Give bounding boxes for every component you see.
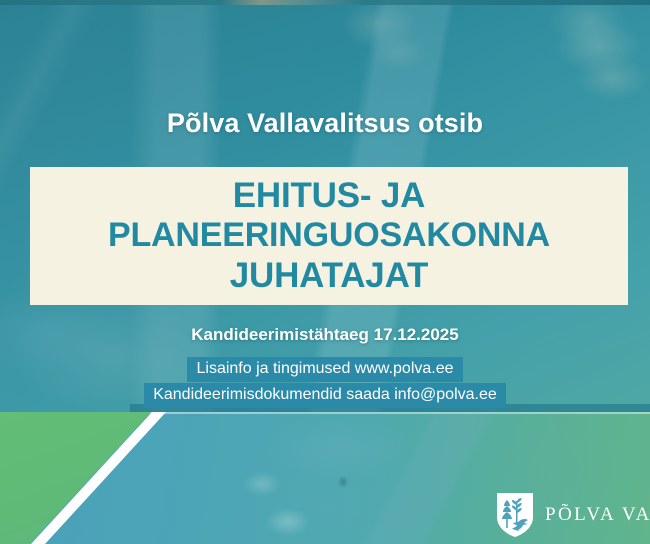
top-edge-strip (0, 0, 650, 5)
job-title-panel: EHITUS- JA PLANEERINGUOSAKONNA JUHATAJAT (30, 167, 628, 305)
job-title-line-1: EHITUS- JA (108, 176, 550, 217)
contact-info-block: Lisainfo ja tingimused www.polva.ee Kand… (0, 357, 650, 408)
polva-vald-logo: PÕLVA VALD (496, 492, 650, 538)
contact-info-row: Lisainfo ja tingimused www.polva.ee (0, 357, 650, 382)
polva-coat-of-arms-icon (496, 492, 534, 538)
page-kicker: Põlva Vallavalitsus otsib (0, 108, 650, 139)
contact-info-row: Kandideerimisdokumendid saada info@polva… (0, 383, 650, 408)
info-line-email: Kandideerimisdokumendid saada info@polva… (144, 383, 506, 408)
page-title: EHITUS- JA PLANEERINGUOSAKONNA JUHATAJAT (102, 176, 556, 297)
job-title-line-2: PLANEERINGUOSAKONNA (108, 216, 550, 255)
job-advert-poster: Põlva Vallavalitsus otsib EHITUS- JA PLA… (0, 0, 650, 544)
application-deadline: Kandideerimistähtaeg 17.12.2025 (0, 325, 650, 345)
info-line-website: Lisainfo ja tingimused www.polva.ee (187, 357, 462, 382)
logo-wordmark: PÕLVA VALD (545, 504, 650, 526)
job-title-line-3: JUHATAJAT (108, 256, 550, 297)
